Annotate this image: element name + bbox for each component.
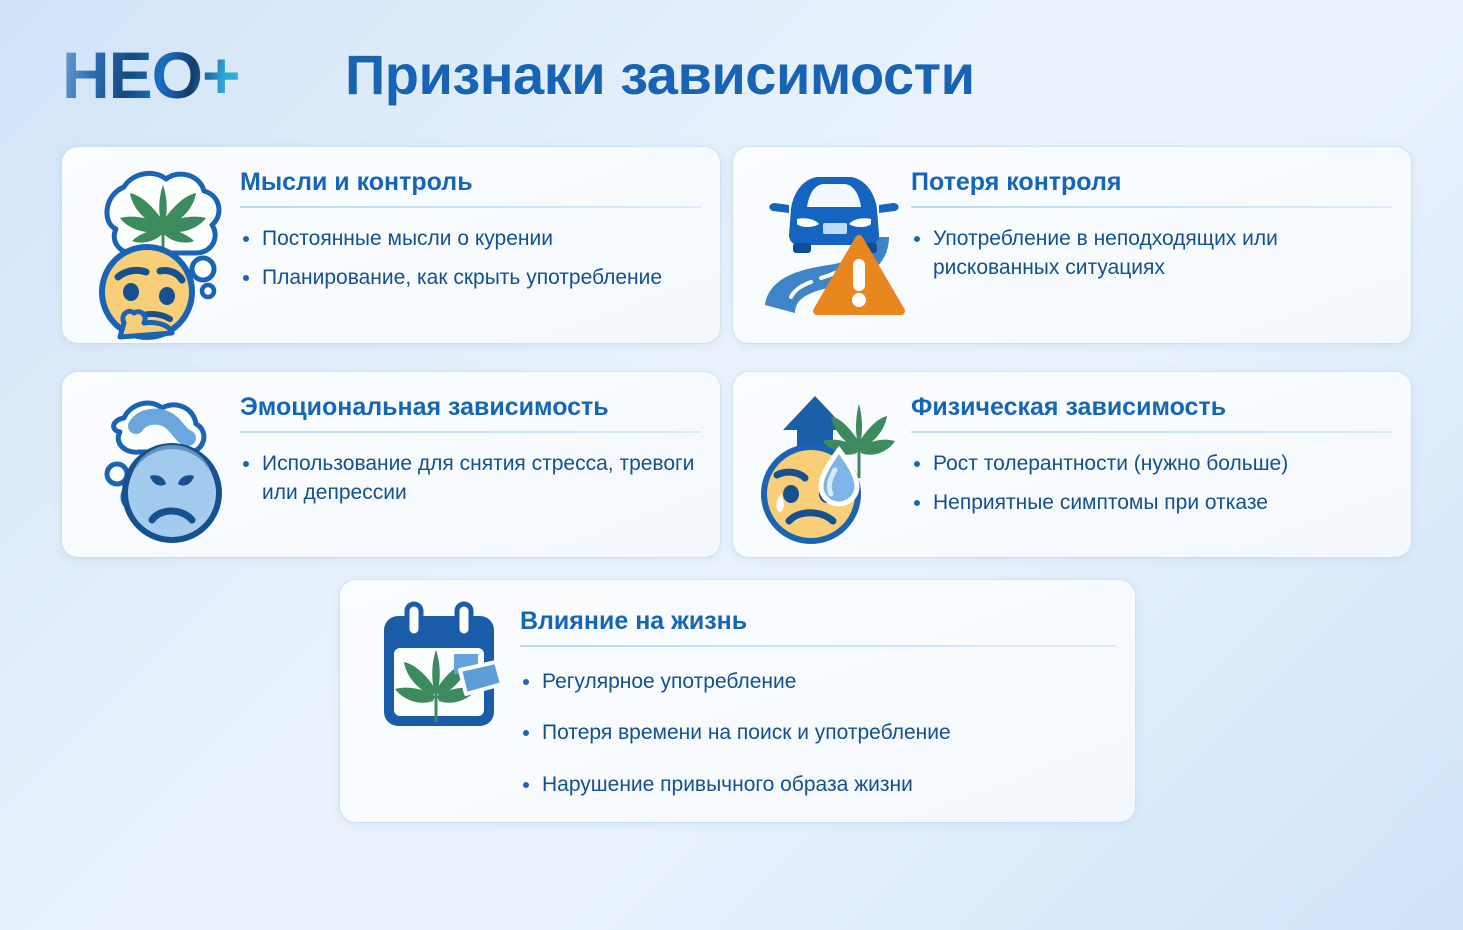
infographic-canvas: НЕО+ Признаки зависимости — [0, 0, 1463, 930]
page-title: Признаки зависимости — [345, 44, 975, 106]
bullet-dot — [914, 461, 920, 467]
bullet-text: Рост толерантности (нужно больше) — [933, 452, 1288, 475]
bullet-text: Употребление в неподходящих или рискован… — [933, 227, 1278, 280]
bullet-text: Нарушение привычного образа жизни — [542, 773, 913, 796]
bullet-list: Рост толерантности (нужно больше) Неприя… — [911, 449, 1393, 519]
bullet-list: Использование для снятия стресса, тревог… — [240, 449, 702, 509]
bullet-dot — [914, 500, 920, 506]
list-item: Рост толерантности (нужно больше) — [911, 449, 1393, 479]
list-item: Регулярное употребление — [520, 667, 1117, 697]
card-title: Мысли и контроль — [240, 169, 702, 197]
card-loss-of-control: Потеря контроля Употребление в неподходя… — [733, 147, 1411, 343]
bullet-text: Постоянные мысли о курении — [262, 227, 553, 250]
card-body: Эмоциональная зависимость Использование … — [240, 394, 702, 543]
list-item: Постоянные мысли о курении — [240, 224, 702, 254]
card-body: Влияние на жизнь Регулярное употребление… — [520, 608, 1117, 808]
divider — [911, 431, 1393, 433]
card-title: Физическая зависимость — [911, 394, 1393, 422]
card-physical-dependence: Физическая зависимость Рост толерантност… — [733, 372, 1411, 557]
neo-plus-logo: НЕО+ — [62, 42, 240, 108]
bullet-list: Употребление в неподходящих или рискован… — [911, 224, 1393, 284]
divider — [240, 431, 702, 433]
bullet-text: Использование для снятия стресса, тревог… — [262, 452, 694, 505]
bullet-dot — [243, 461, 249, 467]
sad-face-thought-cloud-icon — [84, 390, 234, 550]
list-item: Употребление в неподходящих или рискован… — [911, 224, 1393, 284]
divider — [520, 645, 1117, 647]
list-item: Использование для снятия стресса, тревог… — [240, 449, 702, 509]
anxious-face-arrow-leaf-icon — [755, 390, 905, 550]
bullet-dot — [243, 236, 249, 242]
list-item: Нарушение привычного образа жизни — [520, 770, 1117, 800]
bullet-dot — [523, 679, 529, 685]
bullet-text: Планирование, как скрыть употребление — [262, 266, 662, 289]
bullet-list: Постоянные мысли о курении Планирование,… — [240, 224, 702, 294]
bullet-text: Потеря времени на поиск и употребление — [542, 721, 951, 744]
bullet-dot — [243, 275, 249, 281]
bullet-dot — [523, 782, 529, 788]
card-emotional-dependence: Эмоциональная зависимость Использование … — [62, 372, 720, 557]
card-body: Потеря контроля Употребление в неподходя… — [911, 169, 1393, 329]
divider — [911, 206, 1393, 208]
card-thoughts-and-control: Мысли и контроль Постоянные мысли о куре… — [62, 147, 720, 343]
bullet-list: Регулярное употребление Потеря времени н… — [520, 667, 1117, 800]
calendar-leaf-icon — [374, 600, 524, 750]
car-road-warning-icon — [755, 165, 905, 325]
card-title: Потеря контроля — [911, 169, 1393, 197]
card-title: Влияние на жизнь — [520, 608, 1117, 636]
list-item: Потеря времени на поиск и употребление — [520, 718, 1117, 748]
divider — [240, 206, 702, 208]
bullet-dot — [914, 236, 920, 242]
bullet-text: Регулярное употребление — [542, 670, 796, 693]
bullet-dot — [523, 730, 529, 736]
card-body: Мысли и контроль Постоянные мысли о куре… — [240, 169, 702, 329]
header: НЕО+ Признаки зависимости — [0, 0, 1463, 140]
card-impact-on-life: Влияние на жизнь Регулярное употребление… — [340, 580, 1135, 822]
list-item: Планирование, как скрыть употребление — [240, 263, 702, 293]
thinking-face-cloud-leaf-icon — [84, 165, 234, 325]
bullet-text: Неприятные симптомы при отказе — [933, 491, 1268, 514]
card-title: Эмоциональная зависимость — [240, 394, 702, 422]
list-item: Неприятные симптомы при отказе — [911, 488, 1393, 518]
card-body: Физическая зависимость Рост толерантност… — [911, 394, 1393, 543]
